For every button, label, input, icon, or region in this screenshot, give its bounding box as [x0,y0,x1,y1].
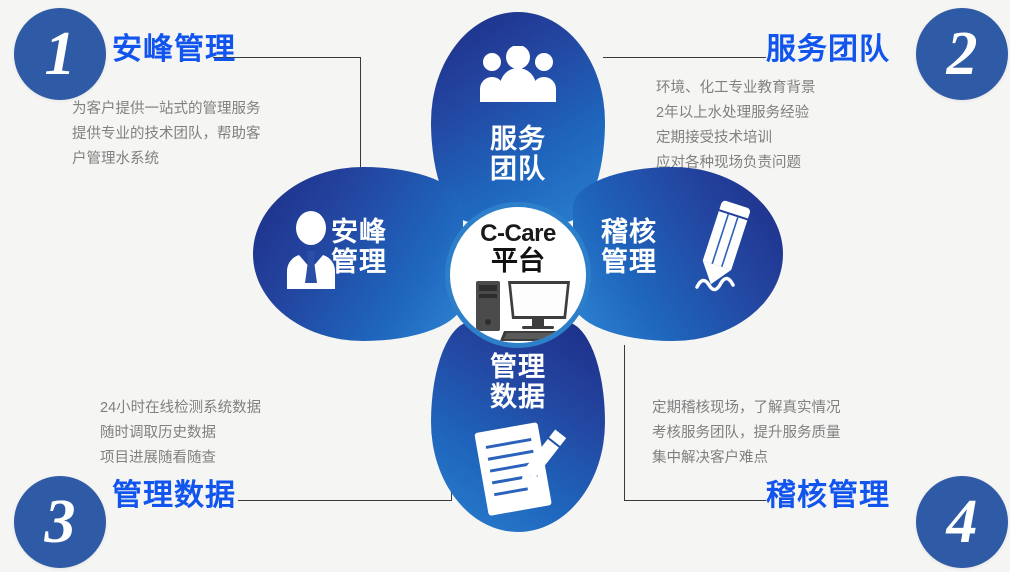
petal-label: 安峰 管理 [331,217,441,277]
section-badge-2: 2 [916,8,1008,100]
hub-inner: C-Care 平台 [450,207,586,343]
section-title-2: 服务团队 [766,24,890,68]
badge-number: 4 [947,491,978,553]
section-title-1: 安峰管理 [112,24,236,68]
petal-management-data[interactable]: 管理 数据 [431,322,605,532]
section-badge-4: 4 [916,476,1008,568]
people-group-icon [478,46,558,102]
section-badge-3: 3 [14,476,106,568]
body-line: 提供专业的技术团队，帮助客 [72,122,261,147]
section-body-3: 24小时在线检测系统数据 随时调取历史数据 项目进展随看随查 [100,396,261,471]
body-line: 24小时在线检测系统数据 [100,396,261,421]
body-line: 随时调取历史数据 [100,421,261,446]
section-badge-1: 1 [14,8,106,100]
clipboard-pencil-icon [471,418,567,518]
section-title-4: 稽核管理 [766,470,890,514]
infographic-canvas: 1 2 3 4 安峰管理 服务团队 管理数据 稽核管理 为客户提供一站式的管理服… [0,0,1010,572]
desktop-computer-icon [474,277,574,343]
body-line: 户管理水系统 [72,147,261,172]
center-hub[interactable]: C-Care 平台 [445,202,591,348]
body-line: 项目进展随看随查 [100,446,261,471]
petal-audit-management[interactable]: 稽核 管理 [573,167,783,341]
badge-number: 1 [45,23,76,85]
petal-label: 服务 团队 [431,124,605,184]
section-body-1: 为客户提供一站式的管理服务 提供专业的技术团队，帮助客 户管理水系统 [72,97,261,172]
petal-label: 稽核 管理 [601,217,711,277]
section-title-3: 管理数据 [112,470,236,514]
petal-label: 管理 数据 [431,352,605,412]
flower-diagram: 服务 团队 安峰 管理 稽核 管理 [253,12,783,532]
badge-number: 3 [45,491,76,553]
badge-number: 2 [947,23,978,85]
body-line: 为客户提供一站式的管理服务 [72,97,261,122]
petal-service-team[interactable]: 服务 团队 [431,12,605,222]
hub-brand-cn: 平台 [450,247,586,275]
hub-brand: C-Care [450,221,586,247]
petal-anfeng-management[interactable]: 安峰 管理 [253,167,463,341]
